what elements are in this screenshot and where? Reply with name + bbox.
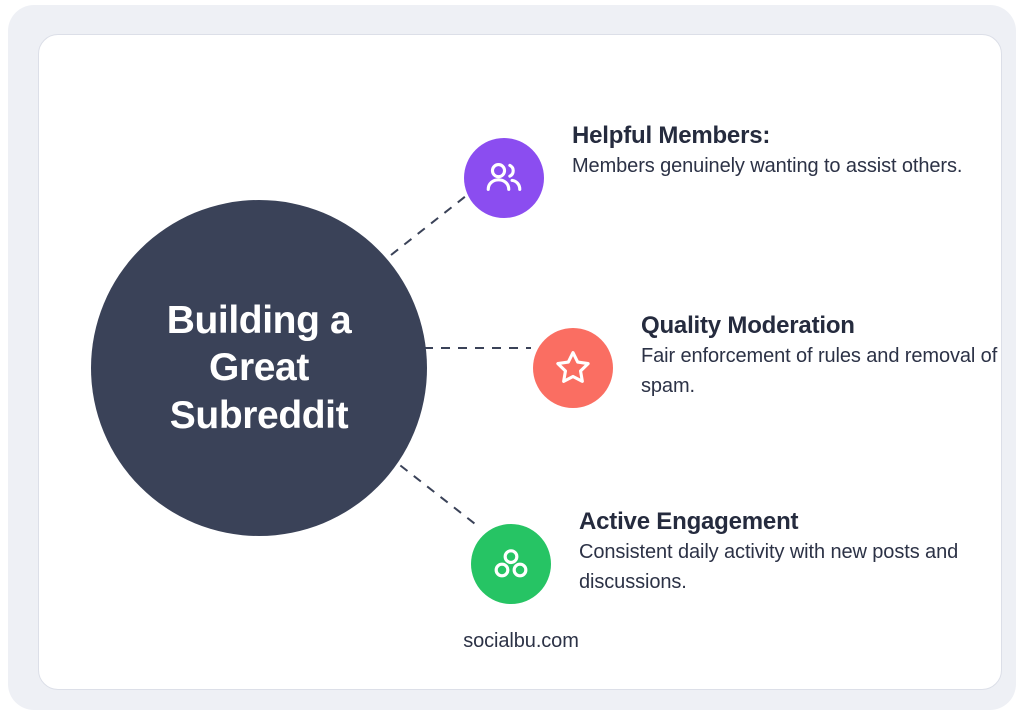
outer-panel: Building a Great Subreddit Helpfu bbox=[8, 5, 1016, 710]
branch-active-engagement[interactable]: Active Engagement Consistent daily activ… bbox=[471, 508, 979, 604]
branch-helpful-members[interactable]: Helpful Members: Members genuinely wanti… bbox=[464, 122, 962, 218]
connector-line-2 bbox=[387, 455, 479, 527]
infographic-root: Building a Great Subreddit Helpfu bbox=[0, 0, 1024, 715]
branch-title: Helpful Members: bbox=[572, 122, 962, 150]
connector-line-0 bbox=[391, 192, 471, 255]
branch-text-active-engagement: Active Engagement Consistent daily activ… bbox=[579, 508, 979, 598]
badge-quality-moderation bbox=[533, 328, 613, 408]
branch-description: Members genuinely wanting to assist othe… bbox=[572, 152, 962, 182]
star-icon bbox=[551, 346, 595, 390]
branch-title: Quality Moderation bbox=[641, 312, 1001, 340]
three-circles-icon bbox=[491, 544, 531, 584]
users-icon bbox=[482, 156, 526, 200]
badge-active-engagement bbox=[471, 524, 551, 604]
branch-description: Fair enforcement of rules and removal of… bbox=[641, 342, 1001, 401]
hub-circle: Building a Great Subreddit bbox=[91, 200, 427, 536]
branch-quality-moderation[interactable]: Quality Moderation Fair enforcement of r… bbox=[533, 312, 1001, 408]
badge-helpful-members bbox=[464, 138, 544, 218]
branch-text-helpful-members: Helpful Members: Members genuinely wanti… bbox=[572, 122, 962, 182]
branch-description: Consistent daily activity with new posts… bbox=[579, 538, 979, 597]
footer-source-label: socialbu.com bbox=[39, 630, 1002, 653]
infographic-card: Building a Great Subreddit Helpfu bbox=[38, 34, 1002, 690]
branch-text-quality-moderation: Quality Moderation Fair enforcement of r… bbox=[641, 312, 1001, 402]
branch-title: Active Engagement bbox=[579, 508, 979, 536]
hub-title: Building a Great Subreddit bbox=[149, 297, 370, 440]
